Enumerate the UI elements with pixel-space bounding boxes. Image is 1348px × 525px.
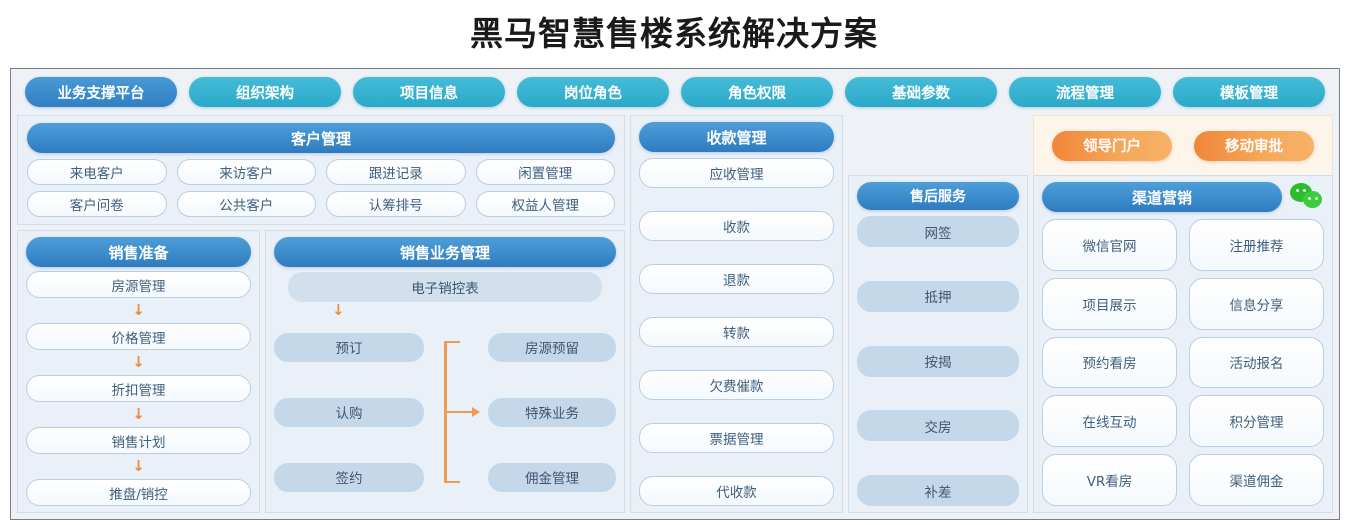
- payment-management-panel: 收款管理 应收管理 收款 退款 转款 欠费催款 票据管理 代收款: [630, 115, 843, 513]
- arrow-down-icon: ↓: [274, 302, 616, 318]
- sales-preparation-panel: 销售准备 房源管理 ↓ 价格管理 ↓ 折扣管理 ↓ 销售计划 ↓ 推盘/销控: [17, 230, 260, 513]
- chip-contract-signing[interactable]: 签约: [274, 463, 424, 492]
- brace-connector: [424, 318, 488, 506]
- chip-event-registration[interactable]: 活动报名: [1189, 337, 1324, 389]
- customer-management-panel: 客户管理 来电客户 来访客户 跟进记录 闲置管理 客户问卷 公共客户 认筹排号 …: [17, 115, 625, 225]
- wechat-icon: [1290, 183, 1324, 211]
- nav-pill-role-permission[interactable]: 角色权限: [681, 77, 833, 107]
- chip-collection[interactable]: 收款: [639, 211, 834, 241]
- portal-bar: 领导门户 移动审批: [1033, 115, 1333, 175]
- chip-reservation[interactable]: 预订: [274, 333, 424, 362]
- channel-marketing-items: 微信官网 注册推荐 项目展示 信息分享 预约看房 活动报名 在线互动 积分管理 …: [1042, 212, 1324, 506]
- chip-viewing-appointment[interactable]: 预约看房: [1042, 337, 1177, 389]
- customer-management-items: 来电客户 来访客户 跟进记录 闲置管理 客户问卷 公共客户 认筹排号 权益人管理: [27, 159, 615, 217]
- after-sales-spacer: [848, 115, 1028, 175]
- sales-preparation-items: 房源管理 ↓ 价格管理 ↓ 折扣管理 ↓ 销售计划 ↓ 推盘/销控: [26, 267, 251, 506]
- chip-launch-control[interactable]: 推盘/销控: [26, 479, 251, 506]
- nav-pill-project-info[interactable]: 项目信息: [353, 77, 505, 107]
- chip-online-interaction[interactable]: 在线互动: [1042, 395, 1177, 447]
- chip-registration-referral[interactable]: 注册推荐: [1189, 219, 1324, 271]
- chip-channel-commission[interactable]: 渠道佣金: [1189, 454, 1324, 506]
- chip-incoming-call-customer[interactable]: 来电客户: [27, 159, 167, 185]
- lower-row: 销售准备 房源管理 ↓ 价格管理 ↓ 折扣管理 ↓ 销售计划 ↓ 推盘/销控: [17, 230, 625, 513]
- chip-commission-mgmt[interactable]: 佣金管理: [488, 463, 616, 492]
- chip-refund[interactable]: 退款: [639, 264, 834, 294]
- chip-handover[interactable]: 交房: [857, 410, 1019, 441]
- page-title-bar: 黑马智慧售楼系统解决方案: [0, 0, 1348, 62]
- after-sales-items: 网签 抵押 按揭 交房 补差: [857, 210, 1019, 506]
- page-title: 黑马智慧售楼系统解决方案: [470, 7, 878, 55]
- chip-receivable-mgmt[interactable]: 应收管理: [639, 158, 834, 188]
- chip-online-signing[interactable]: 网签: [857, 216, 1019, 247]
- pill-leader-portal[interactable]: 领导门户: [1052, 131, 1172, 161]
- right-column: 领导门户 移动审批 渠道营销: [1033, 115, 1333, 513]
- after-sales-panel: 售后服务 网签 抵押 按揭 交房 补差: [848, 175, 1028, 513]
- architecture-board: 业务支撑平台 组织架构 项目信息 岗位角色 角色权限 基础参数 流程管理 模板管…: [10, 68, 1340, 520]
- arrow-down-icon: ↓: [26, 356, 251, 369]
- after-sales-header: 售后服务: [857, 182, 1019, 210]
- chip-subscription[interactable]: 认购: [274, 398, 424, 427]
- chip-price-difference[interactable]: 补差: [857, 475, 1019, 506]
- nav-pill-basic-params[interactable]: 基础参数: [845, 77, 997, 107]
- channel-marketing-header: 渠道营销: [1042, 182, 1282, 212]
- chip-customer-questionnaire[interactable]: 客户问卷: [27, 191, 167, 217]
- chip-project-showcase[interactable]: 项目展示: [1042, 278, 1177, 330]
- nav-pill-business-platform[interactable]: 业务支撑平台: [25, 77, 177, 107]
- chip-transfer[interactable]: 转款: [639, 317, 834, 347]
- chip-discount-mgmt[interactable]: 折扣管理: [26, 375, 251, 402]
- channel-marketing-panel: 渠道营销 微信官网 注册推荐 项目展示 信息分享: [1033, 175, 1333, 513]
- channel-header-row: 渠道营销: [1042, 182, 1324, 212]
- chip-public-customer[interactable]: 公共客户: [177, 191, 317, 217]
- nav-pill-process-mgmt[interactable]: 流程管理: [1009, 77, 1161, 107]
- chip-mortgage-pledge[interactable]: 抵押: [857, 281, 1019, 312]
- sales-business-header: 销售业务管理: [274, 237, 616, 267]
- chip-beneficiary-management[interactable]: 权益人管理: [476, 191, 616, 217]
- chip-idle-management[interactable]: 闲置管理: [476, 159, 616, 185]
- chip-house-resource-mgmt[interactable]: 房源管理: [26, 271, 251, 298]
- pill-mobile-approval[interactable]: 移动审批: [1194, 131, 1314, 161]
- payment-management-items: 应收管理 收款 退款 转款 欠费催款 票据管理 代收款: [639, 152, 834, 506]
- chip-vr-viewing[interactable]: VR看房: [1042, 454, 1177, 506]
- chip-price-mgmt[interactable]: 价格管理: [26, 323, 251, 350]
- chip-bill-mgmt[interactable]: 票据管理: [639, 423, 834, 453]
- nav-pill-job-role[interactable]: 岗位角色: [517, 77, 669, 107]
- solution-architecture-diagram: 黑马智慧售楼系统解决方案 业务支撑平台 组织架构 项目信息 岗位角色 角色权限 …: [0, 0, 1348, 525]
- chip-visiting-customer[interactable]: 来访客户: [177, 159, 317, 185]
- arrow-down-icon: ↓: [26, 408, 251, 421]
- arrow-down-icon: ↓: [26, 304, 251, 317]
- chip-agency-collection[interactable]: 代收款: [639, 476, 834, 506]
- chip-points-mgmt[interactable]: 积分管理: [1189, 395, 1324, 447]
- customer-management-header: 客户管理: [27, 123, 615, 153]
- chip-special-business[interactable]: 特殊业务: [488, 398, 616, 427]
- left-column: 客户管理 来电客户 来访客户 跟进记录 闲置管理 客户问卷 公共客户 认筹排号 …: [17, 115, 625, 513]
- chip-sales-plan[interactable]: 销售计划: [26, 427, 251, 454]
- sales-preparation-header: 销售准备: [26, 237, 251, 267]
- sales-business-grid: 预订 房源预留 认购 特殊业务 签约 佣金管理: [274, 318, 616, 506]
- chip-arrears-reminder[interactable]: 欠费催款: [639, 370, 834, 400]
- sales-business-panel: 销售业务管理 电子销控表 ↓ 预订 房源预留 认购: [265, 230, 625, 513]
- chip-subscription-queue[interactable]: 认筹排号: [326, 191, 466, 217]
- nav-pill-template-mgmt[interactable]: 模板管理: [1173, 77, 1325, 107]
- columns-container: 客户管理 来电客户 来访客户 跟进记录 闲置管理 客户问卷 公共客户 认筹排号 …: [11, 115, 1339, 519]
- chip-follow-up-record[interactable]: 跟进记录: [326, 159, 466, 185]
- chip-info-sharing[interactable]: 信息分享: [1189, 278, 1324, 330]
- nav-pill-org-structure[interactable]: 组织架构: [189, 77, 341, 107]
- arrow-down-icon: ↓: [26, 460, 251, 473]
- chip-mortgage-loan[interactable]: 按揭: [857, 346, 1019, 377]
- top-nav-bar: 业务支撑平台 组织架构 项目信息 岗位角色 角色权限 基础参数 流程管理 模板管…: [11, 69, 1339, 115]
- chip-house-reservation[interactable]: 房源预留: [488, 333, 616, 362]
- payment-management-header: 收款管理: [639, 122, 834, 152]
- chip-wechat-official-site[interactable]: 微信官网: [1042, 219, 1177, 271]
- after-sales-column: 售后服务 网签 抵押 按揭 交房 补差: [848, 115, 1028, 513]
- chip-electronic-sales-control-table[interactable]: 电子销控表: [288, 272, 602, 302]
- sales-business-body: 电子销控表 ↓ 预订 房源预留 认购 特殊业务 签约: [274, 267, 616, 506]
